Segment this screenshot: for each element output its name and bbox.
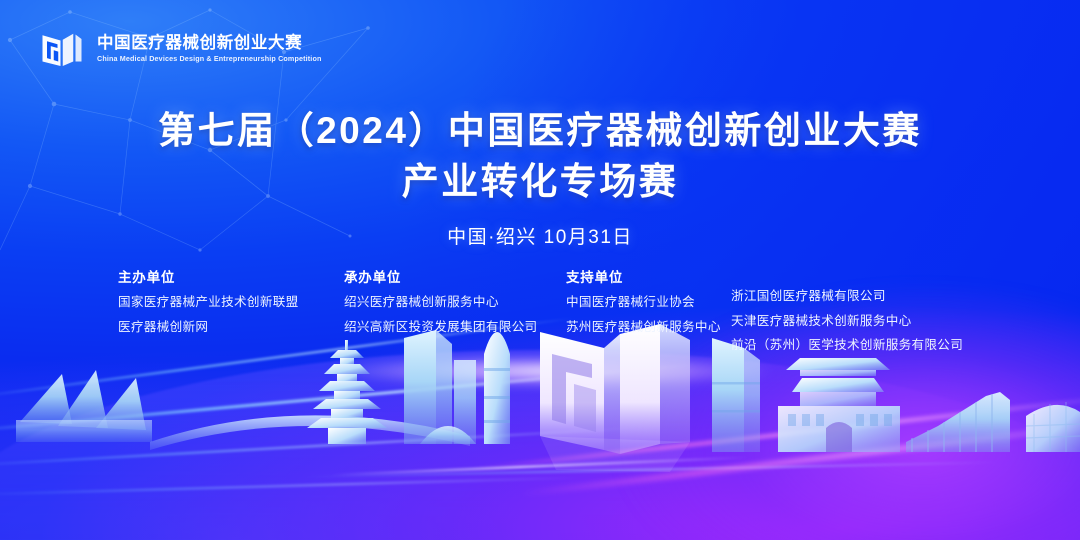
banner-canvas: 中国医疗器械创新创业大赛 China Medical Devices Desig…: [0, 0, 1080, 540]
organizer-heading: 主办单位: [118, 266, 344, 286]
location-date: 中国·绍兴 10月31日: [0, 222, 1080, 249]
organizer-column-host: 主办单位 国家医疗器械产业技术创新联盟 医疗器械创新网: [118, 266, 344, 333]
organizer-item: 前沿（苏州）医学技术创新服务有限公司: [731, 339, 991, 352]
organizer-heading: 承办单位: [344, 266, 566, 286]
page-title-line2: 产业转化专场赛: [0, 159, 1080, 206]
page-title-line1: 第七届（2024）中国医疗器械创新创业大赛: [0, 108, 1080, 155]
horizon-glow: [238, 352, 864, 390]
organizer-item: 医疗器械创新网: [118, 321, 344, 334]
organizers-section: 主办单位 国家医疗器械产业技术创新联盟 医疗器械创新网 承办单位 绍兴医疗器械创…: [118, 266, 991, 352]
brand-name-en: China Medical Devices Design & Entrepren…: [97, 55, 321, 63]
organizer-column-supporter: 支持单位 中国医疗器械行业协会 苏州医疗器械创新服务中心: [566, 266, 731, 333]
hero-title-block: 第七届（2024）中国医疗器械创新创业大赛 产业转化专场赛 中国·绍兴 10月3…: [0, 108, 1080, 249]
organizer-item: 绍兴医疗器械创新服务中心: [344, 296, 566, 309]
organizer-item: 苏州医疗器械创新服务中心: [566, 321, 731, 334]
brand-name-cn: 中国医疗器械创新创业大赛: [97, 35, 328, 52]
organizer-item: 绍兴高新区投资发展集团有限公司: [344, 321, 566, 334]
brand-logo[interactable]: 中国医疗器械创新创业大赛 China Medical Devices Desig…: [38, 24, 328, 72]
open-book-door-logo-icon: [38, 24, 86, 72]
organizer-item: 国家医疗器械产业技术创新联盟: [118, 296, 344, 309]
organizer-column-organizer: 承办单位 绍兴医疗器械创新服务中心 绍兴高新区投资发展集团有限公司: [344, 266, 566, 333]
organizer-column-supporter-extra: 浙江国创医疗器械有限公司 天津医疗器械技术创新服务中心 前沿（苏州）医学技术创新…: [731, 266, 991, 352]
organizer-heading: 支持单位: [566, 266, 731, 286]
organizer-item: 中国医疗器械行业协会: [566, 296, 731, 309]
organizer-item: 浙江国创医疗器械有限公司: [731, 290, 991, 303]
organizer-item: 天津医疗器械技术创新服务中心: [731, 315, 991, 328]
